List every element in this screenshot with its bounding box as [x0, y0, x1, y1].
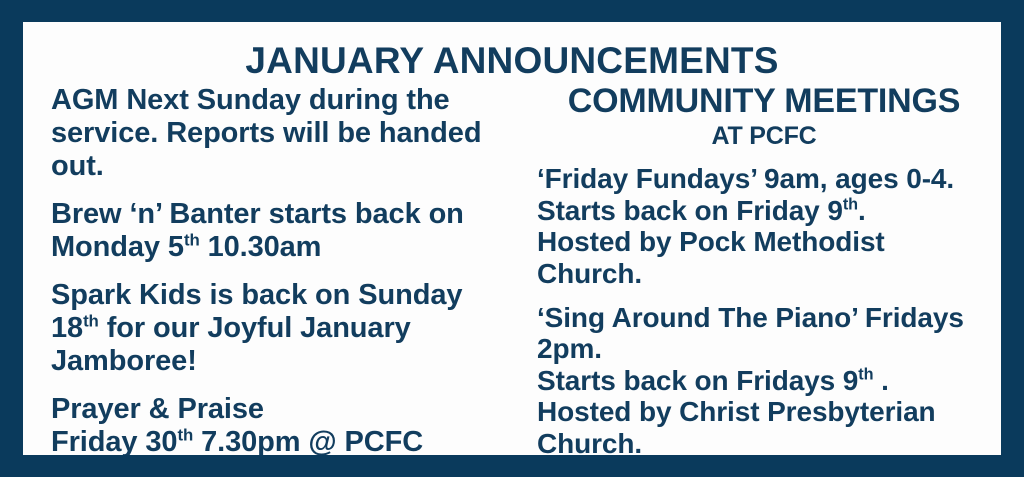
sing-line-1: ‘Sing Around The Piano’ Fridays: [537, 302, 991, 334]
page-title: JANUARY ANNOUNCEMENTS: [23, 42, 1001, 79]
fundays-line-3: Hosted by Pock Methodist: [537, 226, 991, 258]
left-column: AGM Next Sunday during the service. Repo…: [23, 84, 533, 455]
columns-container: AGM Next Sunday during the service. Repo…: [23, 84, 1001, 455]
sing-start-prefix: Starts back on Fridays 9: [537, 365, 858, 396]
prayer-line-2: Friday 30th 7.30pm @ PCFC: [51, 426, 527, 455]
meeting-sing-around-the-piano: ‘Sing Around The Piano’ Fridays 2pm. Sta…: [537, 302, 991, 456]
prayer-date-ordinal: th: [177, 426, 193, 445]
sing-date-ordinal: th: [858, 365, 873, 383]
announcement-poster: JANUARY ANNOUNCEMENTS AGM Next Sunday du…: [0, 0, 1024, 477]
sing-line-2: 2pm.: [537, 333, 991, 365]
spark-line-3: Jamboree!: [51, 345, 527, 378]
agm-line-2: service. Reports will be handed: [51, 117, 527, 150]
meeting-friday-fundays: ‘Friday Fundays’ 9am, ages 0-4. Starts b…: [537, 163, 991, 290]
fundays-line-4: Church.: [537, 258, 991, 290]
spark-date-ordinal: th: [83, 312, 99, 331]
brew-line-2: Monday 5th 10.30am: [51, 231, 527, 264]
spark-line-1: Spark Kids is back on Sunday: [51, 279, 527, 312]
fundays-start-prefix: Starts back on Friday 9: [537, 195, 843, 226]
community-meetings-subheading: AT PCFC: [537, 124, 991, 149]
prayer-time-venue: 7.30pm @ PCFC: [193, 426, 423, 455]
prayer-date-prefix: Friday 30: [51, 426, 177, 455]
announcement-prayer-and-praise: Prayer & Praise Friday 30th 7.30pm @ PCF…: [51, 393, 527, 455]
prayer-line-1: Prayer & Praise: [51, 393, 527, 426]
poster-card: JANUARY ANNOUNCEMENTS AGM Next Sunday du…: [23, 22, 1001, 455]
spark-date-prefix: 18: [51, 312, 83, 344]
spark-date-tail: for our Joyful January: [99, 312, 411, 344]
fundays-start-post: .: [858, 195, 866, 226]
announcement-spark-kids: Spark Kids is back on Sunday 18th for ou…: [51, 279, 527, 378]
fundays-line-1: ‘Friday Fundays’ 9am, ages 0-4.: [537, 163, 991, 195]
announcement-brew-n-banter: Brew ‘n’ Banter starts back on Monday 5t…: [51, 198, 527, 264]
fundays-line-2: Starts back on Friday 9th.: [537, 195, 991, 227]
announcement-agm: AGM Next Sunday during the service. Repo…: [51, 84, 527, 183]
sing-start-post: .: [873, 365, 888, 396]
community-meetings-heading: COMMUNITY MEETINGS: [537, 84, 991, 118]
sing-line-3: Starts back on Fridays 9th .: [537, 365, 991, 397]
agm-line-1: AGM Next Sunday during the: [51, 84, 527, 117]
sing-line-4: Hosted by Christ Presbyterian: [537, 396, 991, 428]
brew-date-ordinal: th: [184, 231, 200, 250]
sing-line-5: Church.: [537, 428, 991, 455]
brew-date-prefix: Monday 5: [51, 231, 184, 263]
right-column: COMMUNITY MEETINGS AT PCFC ‘Friday Funda…: [533, 84, 1001, 455]
spark-line-2: 18th for our Joyful January: [51, 312, 527, 345]
brew-time: 10.30am: [200, 231, 322, 263]
agm-line-3: out.: [51, 150, 527, 183]
fundays-date-ordinal: th: [843, 195, 858, 213]
brew-line-1: Brew ‘n’ Banter starts back on: [51, 198, 527, 231]
